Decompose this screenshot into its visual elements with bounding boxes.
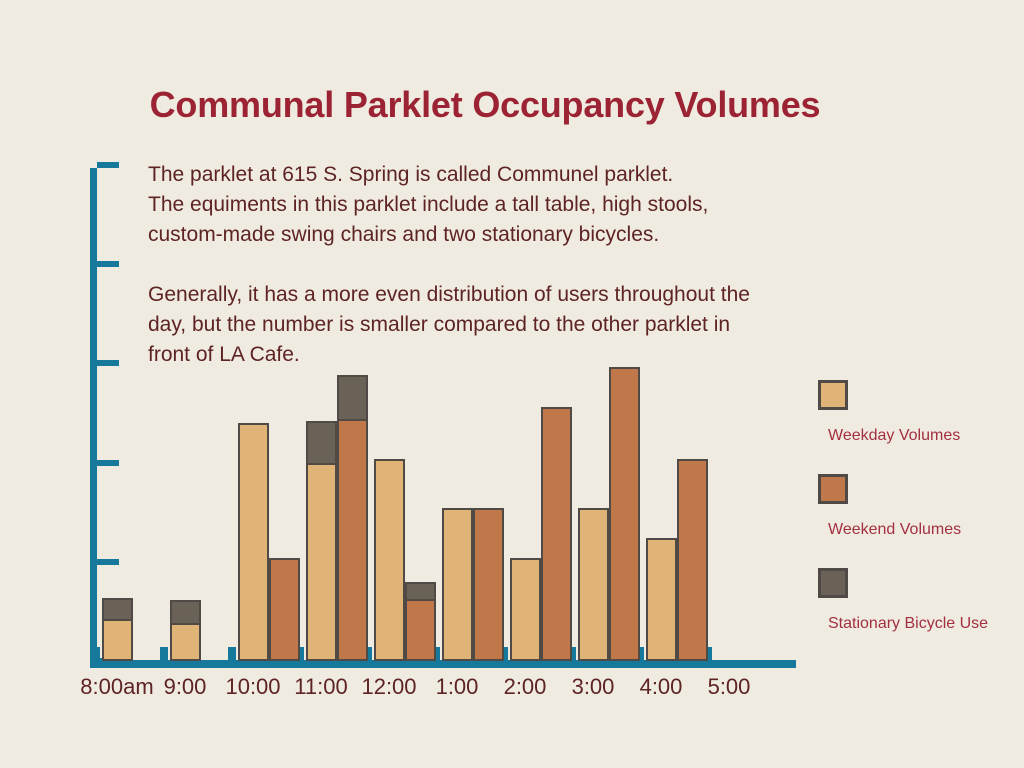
bar-weekday (170, 601, 201, 661)
legend-swatch (818, 474, 848, 504)
bar-weekday (306, 423, 337, 661)
x-axis-tick (92, 647, 100, 660)
bar-segment-bicycle-use (102, 598, 133, 622)
y-axis-tick (97, 162, 119, 168)
x-axis-tick-label: 11:00 (282, 676, 360, 698)
x-axis-tick (160, 647, 168, 660)
legend-swatch (818, 568, 848, 598)
x-axis-tick-label: 8:00am (78, 676, 156, 698)
bar-weekday (238, 423, 269, 661)
x-axis-tick-label: 2:00 (486, 676, 564, 698)
y-axis-tick (97, 460, 119, 466)
bar-weekend (609, 367, 640, 661)
legend-item-label: Weekend Volumes (828, 521, 961, 539)
bar-weekend (473, 508, 504, 661)
bar-weekend (269, 558, 300, 661)
y-axis-tick (97, 261, 119, 267)
x-axis-tick-label: 12:00 (350, 676, 428, 698)
x-axis-tick-label: 5:00 (690, 676, 768, 698)
bar-weekday (442, 508, 473, 661)
bar-weekend (677, 459, 708, 661)
legend-item-label: Stationary Bicycle Use (828, 615, 988, 633)
bar-weekday (102, 600, 133, 662)
x-axis-tick-label: 3:00 (554, 676, 632, 698)
bar-segment-bicycle-use (405, 582, 436, 602)
bar-segment-bicycle-use (306, 421, 337, 465)
bar-segment-bicycle-use (170, 600, 201, 626)
legend-item[interactable]: Weekday Volumes (818, 380, 1024, 460)
legend-swatch (818, 380, 848, 410)
legend-item[interactable]: Stationary Bicycle Use (818, 568, 1024, 648)
legend-item-label: Weekday Volumes (828, 427, 960, 445)
bar-segment-bicycle-use (337, 375, 368, 421)
bar-weekday (374, 459, 405, 661)
x-axis-tick-label: 9:00 (146, 676, 224, 698)
x-axis-tick-label: 4:00 (622, 676, 700, 698)
slide-canvas: Communal Parklet Occupancy Volumes The p… (0, 0, 1024, 768)
bar-weekday (510, 558, 541, 661)
x-axis-tick-label: 10:00 (214, 676, 292, 698)
y-axis-tick (97, 360, 119, 366)
bar-weekend (337, 377, 368, 661)
page-title: Communal Parklet Occupancy Volumes (0, 84, 970, 126)
x-axis-tick (228, 647, 236, 660)
legend-item[interactable]: Weekend Volumes (818, 474, 1024, 554)
x-axis-line (90, 660, 796, 668)
bar-weekend (405, 584, 436, 661)
bar-chart-plot-area: 0510152025 8:00am9:0010:0011:0012:001:00… (90, 168, 796, 668)
y-axis-line (90, 168, 97, 667)
bar-weekend (541, 407, 572, 661)
bar-weekday (578, 508, 609, 661)
bar-weekday (646, 538, 677, 661)
x-axis-tick-label: 1:00 (418, 676, 496, 698)
y-axis-tick (97, 559, 119, 565)
